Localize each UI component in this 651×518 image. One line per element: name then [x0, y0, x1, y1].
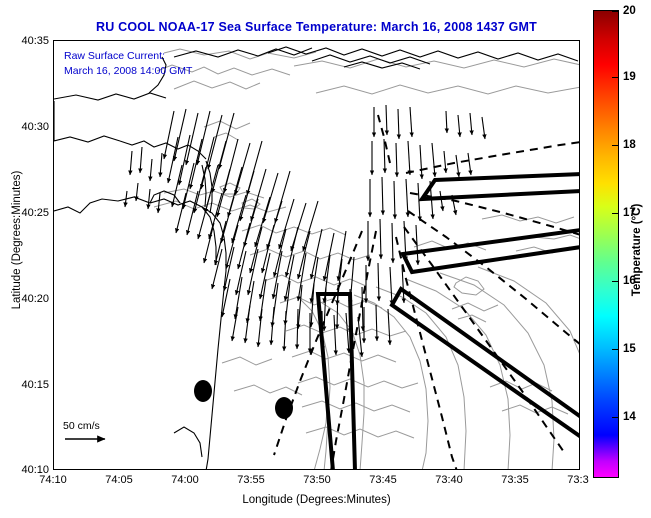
- x-axis-label: Longitude (Degrees:Minutes): [53, 494, 580, 506]
- colorbar-tick-mark: [612, 281, 619, 282]
- map-axes: Raw Surface Current: March 16, 2008 14:0…: [53, 40, 580, 470]
- xtick-label: 73:35: [501, 474, 529, 486]
- scale-key-arrow-icon: [63, 432, 123, 446]
- sst-figure: RU COOL NOAA-17 Sea Surface Temperature:…: [0, 0, 651, 518]
- ytick-label: 40:35: [5, 35, 49, 47]
- page-title: RU COOL NOAA-17 Sea Surface Temperature:…: [53, 20, 580, 34]
- map-canvas: [54, 41, 580, 470]
- colorbar-tick-label: 15: [623, 343, 636, 355]
- colorbar-tick-mark: [612, 77, 619, 78]
- colorbar-tick-label: 19: [623, 71, 636, 83]
- colorbar-tick-mark: [612, 213, 619, 214]
- ytick-label: 40:15: [5, 379, 49, 391]
- colorbar-tick-label: 14: [623, 411, 636, 423]
- xtick-label: 73:3: [567, 474, 588, 486]
- colorbar-tick-label: 20: [623, 5, 636, 17]
- xtick-label: 74:00: [171, 474, 199, 486]
- colorbar-tick-mark: [612, 145, 619, 146]
- xtick-label: 73:40: [435, 474, 463, 486]
- station-marker: [275, 397, 293, 419]
- colorbar-tick-label: 18: [623, 139, 636, 151]
- xtick-label: 74:05: [105, 474, 133, 486]
- xtick-label: 73:50: [303, 474, 331, 486]
- bathymetry-contours: [154, 49, 580, 470]
- temperature-colorbar: [593, 10, 619, 478]
- colorbar-tick-mark: [612, 417, 619, 418]
- ytick-label: 40:10: [5, 464, 49, 476]
- vector-scale-key: 50 cm/s: [63, 420, 123, 451]
- xtick-label: 73:45: [369, 474, 397, 486]
- y-axis-label: Latitude (Degrees:Minutes): [11, 130, 23, 350]
- colorbar-tick-mark: [612, 11, 619, 12]
- xtick-label: 73:55: [237, 474, 265, 486]
- station-markers: [194, 380, 293, 419]
- scale-key-label: 50 cm/s: [63, 420, 123, 432]
- colorbar-tick-mark: [612, 349, 619, 350]
- station-marker: [194, 380, 212, 402]
- colorbar-axis-label: Temperature (°C): [631, 170, 643, 330]
